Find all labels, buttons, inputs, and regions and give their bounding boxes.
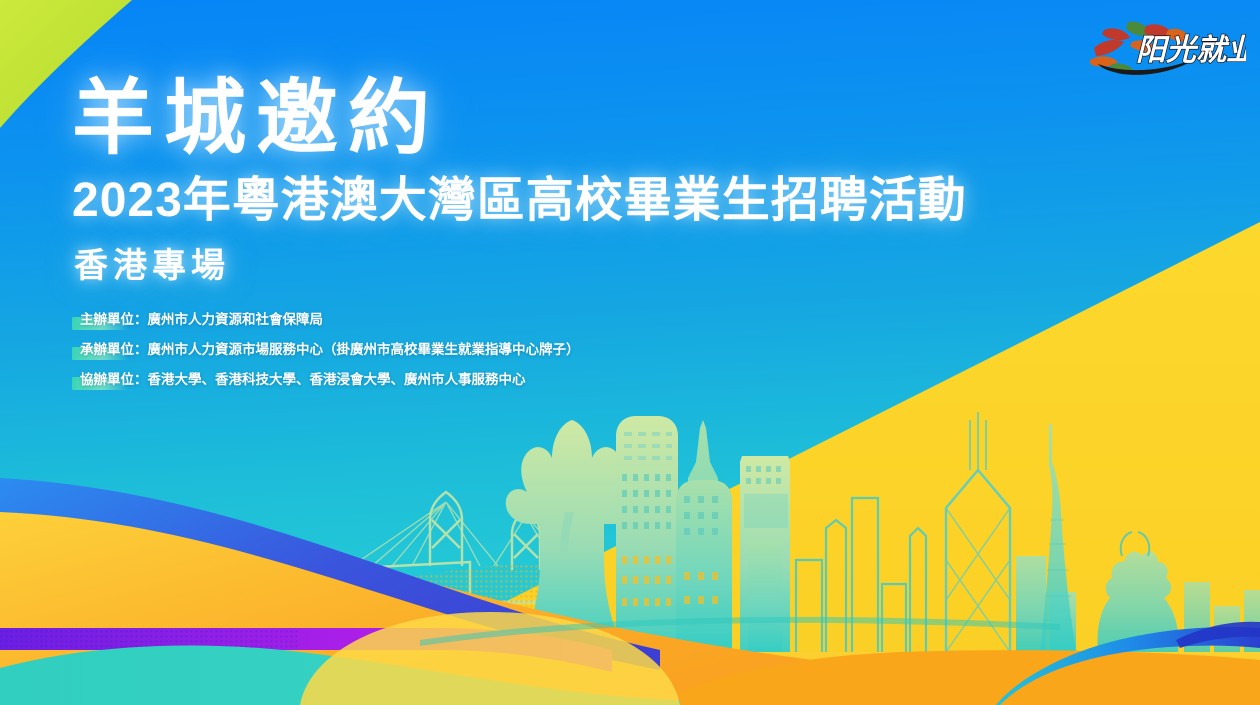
page-title: 羊城邀約 xyxy=(72,78,1082,160)
organizer-label: 協辦單位： xyxy=(80,372,148,387)
spire-tower xyxy=(676,420,732,652)
organizer-label: 承辦單位： xyxy=(80,342,148,357)
organizer-value: 香港大學、香港科技大學、香港浸會大學、廣州市人事服務中心 xyxy=(148,372,526,387)
poster-text-block: 羊城邀約 2023年粵港澳大灣區高校畢業生招聘活動 香港專場 主辦單位：廣州市人… xyxy=(72,78,1082,402)
organizer-label: 主辦單位： xyxy=(80,312,148,327)
skyline-towers xyxy=(616,416,678,652)
organizer-row-undertaker: 承辦單位：廣州市人力資源市場服務中心（掛廣州市高校畢業生就業指導中心牌子） xyxy=(72,342,1082,358)
sunshine-employment-logo: 阳光就业 xyxy=(1076,12,1246,84)
event-subtitle: 2023年粵港澳大灣區高校畢業生招聘活動 xyxy=(72,176,1082,226)
organizer-value: 廣州市人力資源市場服務中心（掛廣州市高校畢業生就業指導中心牌子） xyxy=(148,342,580,357)
organizer-row-coorganizer: 協辦單位：香港大學、香港科技大學、香港浸會大學、廣州市人事服務中心 xyxy=(72,372,1082,388)
venue-title: 香港專場 xyxy=(74,248,1082,285)
logo-svg: 阳光就业 xyxy=(1076,12,1246,84)
organizer-list: 主辦單位：廣州市人力資源和社會保障局 承辦單位：廣州市人力資源市場服務中心（掛廣… xyxy=(72,312,1082,389)
organizer-row-host: 主辦單位：廣州市人力資源和社會保障局 xyxy=(72,312,1082,328)
organizer-value: 廣州市人力資源和社會保障局 xyxy=(148,312,324,327)
logo-text: 阳光就业 xyxy=(1136,34,1246,67)
event-poster: 羊城邀約 2023年粵港澳大灣區高校畢業生招聘活動 香港專場 主辦單位：廣州市人… xyxy=(0,0,1260,705)
